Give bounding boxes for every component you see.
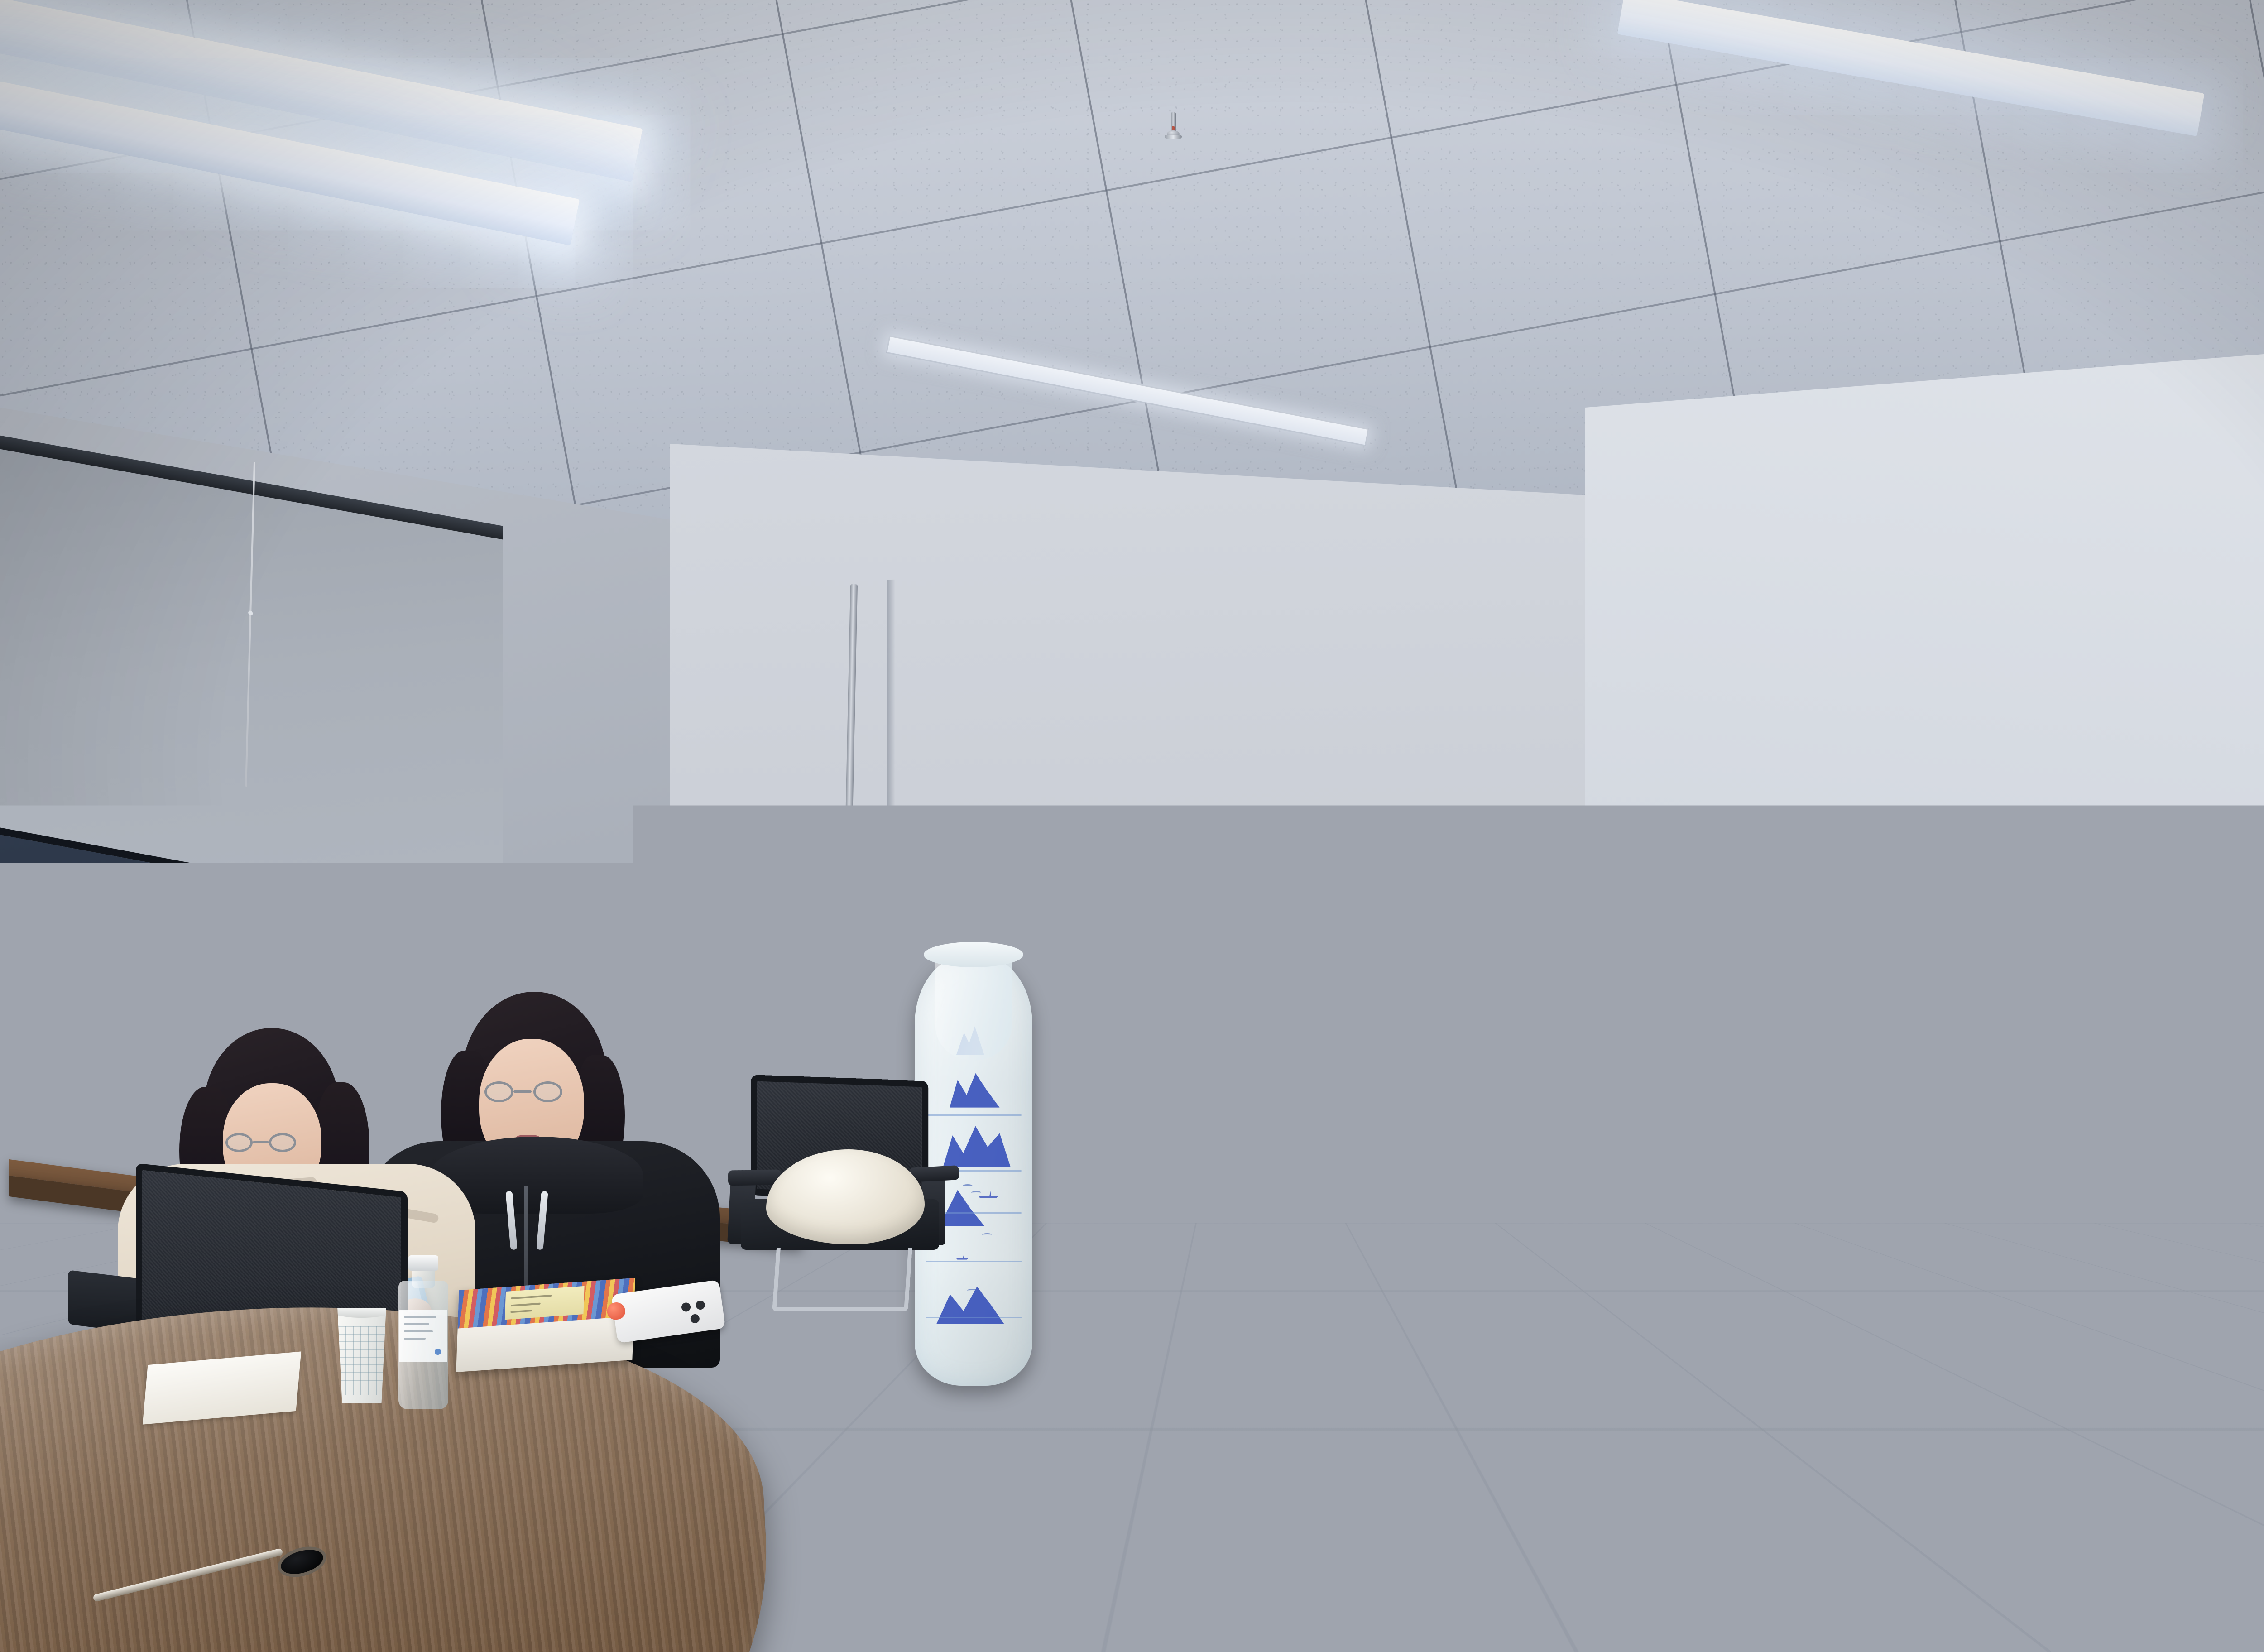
diagram-node-root: 亲属称谓 [1424, 449, 1591, 613]
radiator-valve[interactable] [681, 1086, 701, 1113]
diagram-node-left-label: 个体指义 [1388, 822, 1477, 869]
presenter-mouth-speaking [1117, 970, 1141, 985]
stand-column-right [1549, 1166, 1607, 1495]
fire-sprinkler-icon [1164, 112, 1183, 149]
presenter-trousers [1055, 1311, 1281, 1646]
presenter [1028, 840, 1318, 1652]
earring-icon [1208, 953, 1215, 960]
stand-column-left [1327, 1171, 1521, 1508]
leaf-left-term1-text: 二舅 [1424, 949, 1469, 983]
glasses-icon [225, 1133, 319, 1155]
leaf-right-term1: 阿舅 [1654, 923, 1703, 967]
stand-cable-hole-2 [1616, 1399, 1642, 1434]
paper-cup[interactable] [333, 1308, 391, 1403]
leaf-right-term2-suffix: 侬 [1688, 1028, 1712, 1061]
diagram-node-root-label: 亲属称谓 [1448, 499, 1567, 563]
water-bottle[interactable] [398, 1260, 448, 1409]
leaf-right-term1-text: 阿舅 [1654, 929, 1703, 966]
chair-legs [772, 1248, 912, 1311]
vase-lip [924, 942, 1023, 967]
camera-notch-icon [1395, 437, 1415, 446]
leaf-right-term2: 阿舅侬 [1639, 1023, 1712, 1071]
diagram-node-right-label: 个体指义/复数义 [1621, 772, 1784, 831]
leaf-left-term2-base: 二舅 [1418, 1045, 1463, 1079]
leaf-right-term2-base: 阿舅 [1639, 1032, 1688, 1069]
presenter-collar [1118, 1004, 1195, 1036]
classroom-photo: 汉语的亲属称谓 亲属称谓 个体指义 个体指义/复 [0, 0, 2264, 1652]
leaf-left-term2: 二舅侬 [1418, 1036, 1486, 1080]
side-stylus[interactable] [1991, 617, 2003, 723]
leaf-left-term2-suffix: 侬 [1463, 1041, 1486, 1071]
leaf-left-term1: 二舅 [1424, 944, 1469, 984]
book[interactable] [456, 1278, 635, 1372]
glasses-icon [483, 1081, 580, 1104]
